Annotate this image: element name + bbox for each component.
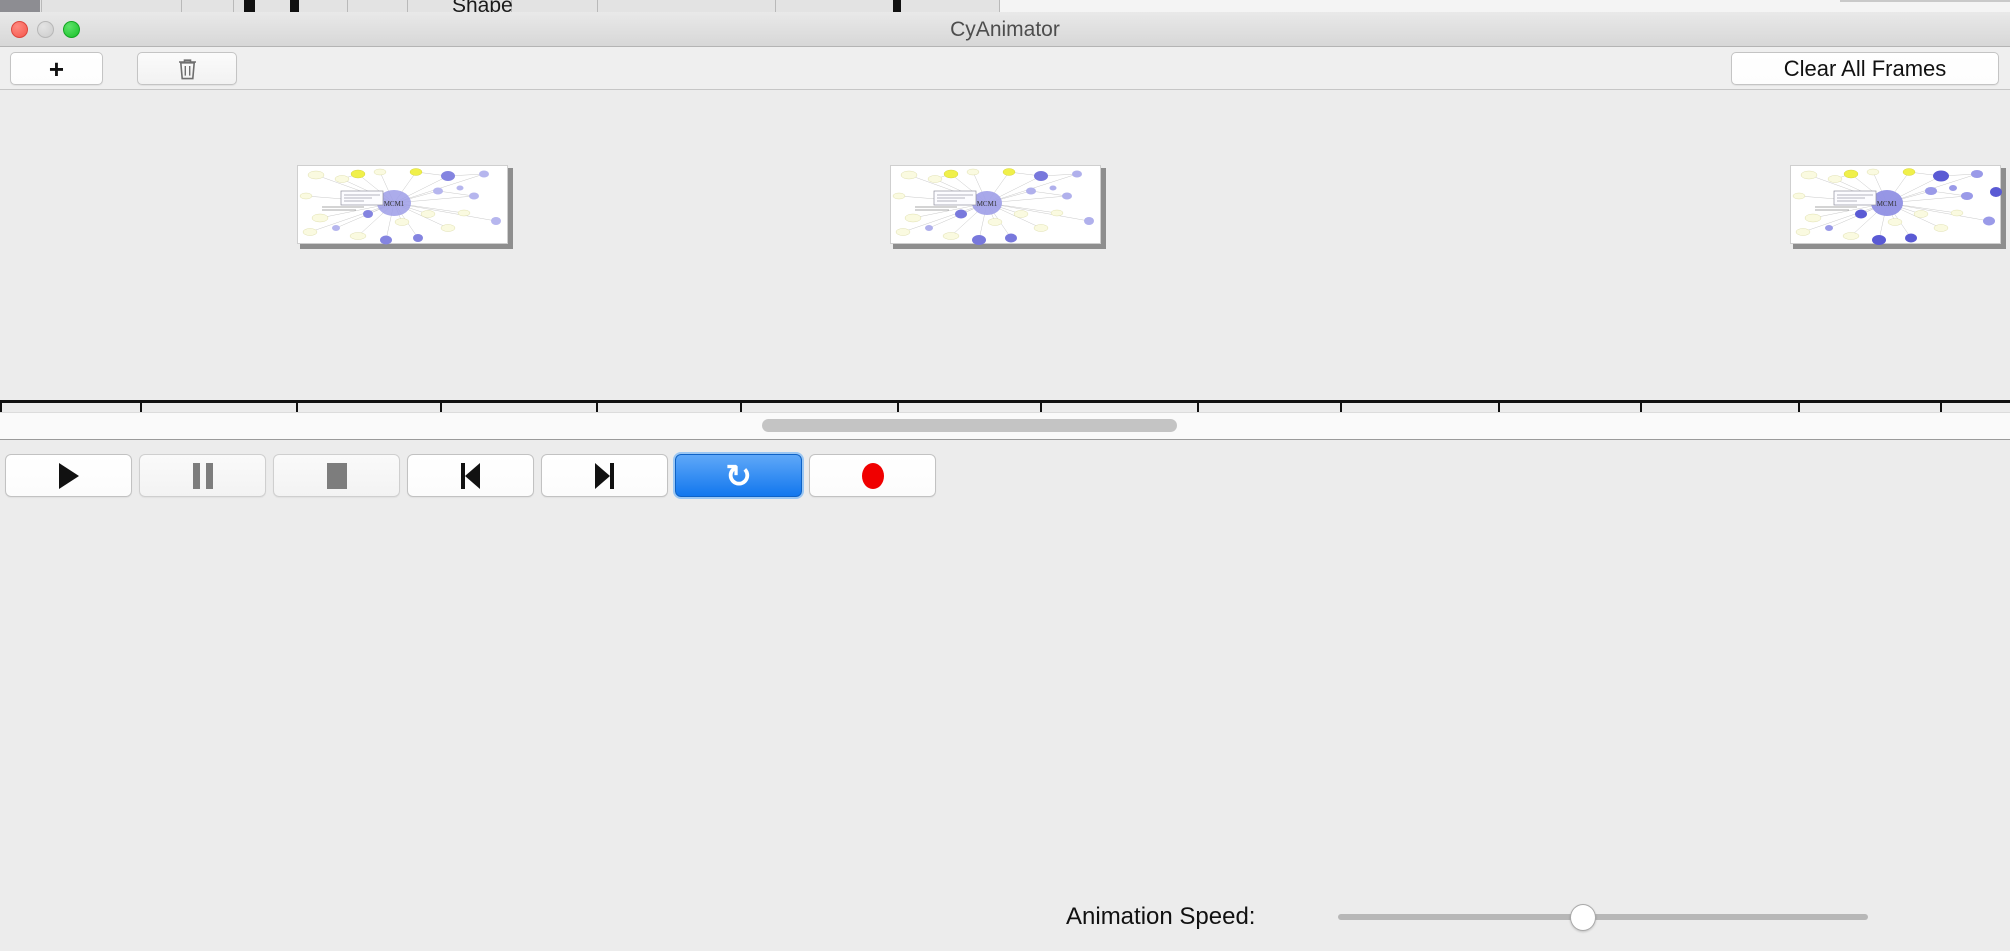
delete-frame-button[interactable]: [137, 52, 237, 85]
timeline-scrollbar-track[interactable]: [0, 412, 2010, 440]
pause-icon: [193, 463, 213, 489]
playback-control-bar: ↻ Animation Speed:: [0, 441, 2010, 510]
axis-major-tick: [1498, 403, 1500, 412]
bg-chunk: [42, 0, 182, 12]
bg-chunk: [598, 0, 776, 12]
svg-text:MCM1: MCM1: [384, 200, 405, 208]
skip-backward-icon: [461, 463, 480, 489]
timeline-scrollbar-thumb[interactable]: [762, 419, 1177, 432]
frame-thumbnail[interactable]: MCM1: [297, 165, 513, 249]
add-frame-button[interactable]: +: [10, 52, 103, 85]
frame-thumbnail[interactable]: MCM1: [1790, 165, 2006, 249]
axis-major-tick: [1197, 403, 1199, 412]
record-icon: [862, 463, 884, 489]
bg-window-label: Shape: [452, 0, 513, 12]
window-titlebar: CyAnimator: [0, 12, 2010, 47]
axis-minor-tick: [1340, 403, 1342, 412]
axis-minor-tick: [1640, 403, 1642, 412]
clear-all-frames-label: Clear All Frames: [1784, 56, 1947, 82]
timeline-panel[interactable]: MCM1: [0, 90, 2010, 412]
thumbnail-card: MCM1: [1790, 165, 2001, 244]
slider-thumb[interactable]: [1570, 904, 1596, 931]
svg-text:MCM1: MCM1: [977, 200, 998, 208]
thumbnail-card: MCM1: [890, 165, 1101, 244]
plus-icon: +: [49, 56, 64, 82]
loop-icon: ↻: [725, 460, 752, 492]
animation-speed-label: Animation Speed:: [1066, 882, 1255, 951]
axis-major-tick: [596, 403, 598, 412]
skip-forward-icon: [595, 463, 614, 489]
bg-mark: [893, 0, 901, 12]
skip-to-end-button[interactable]: [541, 454, 668, 497]
network-preview: MCM1: [298, 166, 509, 245]
skip-to-start-button[interactable]: [407, 454, 534, 497]
minimize-button[interactable]: [37, 21, 54, 38]
svg-text:MCM1: MCM1: [1877, 200, 1898, 208]
traffic-light-group: [11, 21, 80, 38]
axis-minor-tick: [440, 403, 442, 412]
slider-track[interactable]: [1338, 914, 1868, 920]
page-title: CyAnimator: [0, 12, 2010, 47]
bg-chunk: [348, 0, 408, 12]
bg-chunk: [182, 0, 234, 12]
axis-major-tick: [0, 403, 2, 412]
timeline-axis: [0, 400, 2010, 403]
record-button[interactable]: [809, 454, 936, 497]
axis-minor-tick: [1040, 403, 1042, 412]
bg-chunk: [512, 0, 598, 12]
maximize-button[interactable]: [63, 21, 80, 38]
play-button[interactable]: [5, 454, 132, 497]
bg-dark-block: [0, 0, 40, 12]
bg-mark: [244, 0, 255, 12]
network-preview: MCM1: [891, 166, 1102, 245]
axis-minor-tick: [140, 403, 142, 412]
bg-chunk: [776, 0, 1000, 12]
axis-minor-tick: [1940, 403, 1942, 412]
axis-major-tick: [1798, 403, 1800, 412]
pause-button[interactable]: [139, 454, 266, 497]
bg-mark: [290, 0, 299, 12]
axis-minor-tick: [740, 403, 742, 412]
background-window-strip: Shape: [0, 0, 2010, 12]
loop-button[interactable]: ↻: [675, 454, 802, 497]
trash-icon: [177, 57, 198, 81]
thumbnail-card: MCM1: [297, 165, 508, 244]
stop-button[interactable]: [273, 454, 400, 497]
clear-all-frames-button[interactable]: Clear All Frames: [1731, 52, 1999, 85]
frame-thumbnail[interactable]: MCM1: [890, 165, 1106, 249]
stop-icon: [327, 463, 347, 489]
play-icon: [59, 463, 79, 489]
animation-speed-slider[interactable]: [1338, 882, 1868, 951]
axis-major-tick: [296, 403, 298, 412]
network-preview: MCM1: [1791, 166, 2002, 245]
axis-major-tick: [897, 403, 899, 412]
close-button[interactable]: [11, 21, 28, 38]
frame-toolbar: + Clear All Frames: [0, 47, 2010, 90]
